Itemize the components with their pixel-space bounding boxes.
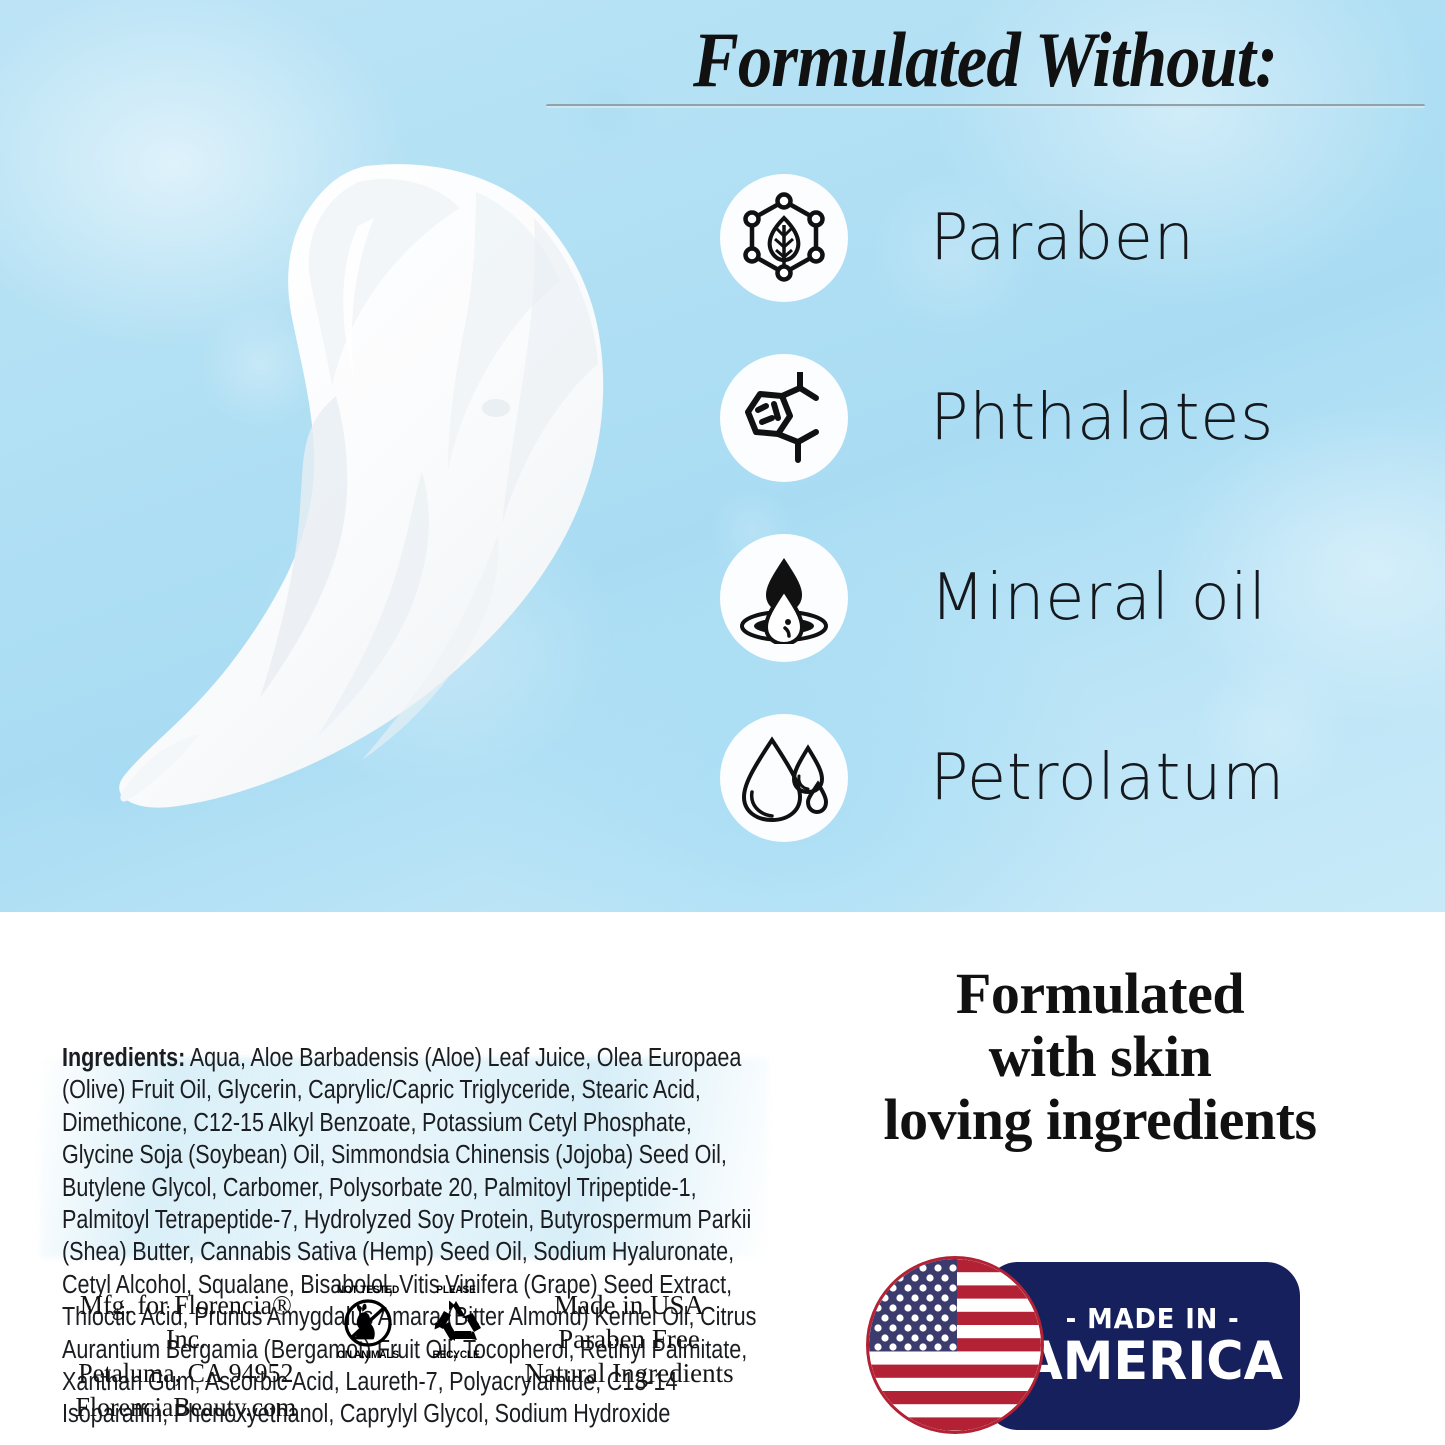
badge-bottom-label: AMERICA	[1023, 1334, 1283, 1389]
ingredients-heading: Ingredients:	[62, 1044, 185, 1072]
not-tested-on-animals-icon: NOT TESTED ON ANIMALS	[332, 1284, 404, 1362]
benzene-chain-icon	[720, 354, 848, 482]
us-flag-icon	[866, 1256, 1044, 1434]
list-item[interactable]: Phthalates	[712, 328, 1432, 508]
address-line-1: Mfg. for Florencia® Inc.	[62, 1288, 310, 1356]
recycle-top-label: PLEASE	[423, 1284, 489, 1297]
oil-drop-puddle-icon	[720, 534, 848, 662]
cream-swatch-image	[104, 158, 664, 838]
please-recycle-icon: PLEASE RECYCLE	[420, 1284, 492, 1362]
badge-top-label: - MADE IN -	[1066, 1304, 1240, 1334]
manufacturer-address: Mfg. for Florencia® Inc. Petaluma, CA 94…	[62, 1282, 310, 1424]
headline-line-3: loving ingredients	[760, 1088, 1440, 1151]
made-in-america-badge: - MADE IN - AMERICA	[866, 1256, 1300, 1436]
website-url[interactable]: FlorenciaBeauty.com	[62, 1390, 310, 1424]
list-item-label: Mineral oil	[930, 566, 1267, 630]
page-title: Formulated Without:	[598, 18, 1372, 102]
claim-line-1: Made in USA	[504, 1288, 754, 1322]
molecule-leaf-icon	[720, 174, 848, 302]
list-item-label: Petrolatum	[930, 746, 1285, 810]
list-item[interactable]: Mineral oil	[712, 508, 1432, 688]
headline-line-1: Formulated	[760, 962, 1440, 1025]
address-line-2: Petaluma, CA 94952	[62, 1356, 310, 1390]
not-tested-bottom-label: ON ANIMALS	[335, 1349, 401, 1362]
manufacturer-footer: Mfg. for Florencia® Inc. Petaluma, CA 94…	[62, 1282, 762, 1424]
rabbit-crossed-circle-glyph	[339, 1298, 397, 1348]
free-from-list: Paraben Phthalates	[712, 148, 1432, 868]
headline-line-2: with skin	[760, 1025, 1440, 1088]
certification-icons: NOT TESTED ON ANIMALS PLEASE	[332, 1282, 492, 1362]
list-item-label: Paraben	[930, 206, 1195, 270]
claim-line-2: Paraben Free	[504, 1322, 754, 1356]
list-item[interactable]: Paraben	[712, 148, 1432, 328]
title-divider-rule	[546, 104, 1425, 108]
recycle-bottom-label: RECYCLE	[423, 1349, 489, 1362]
product-claims: Made in USA Paraben Free Natural Ingredi…	[504, 1282, 754, 1390]
water-droplets-icon	[720, 714, 848, 842]
list-item-label: Phthalates	[930, 386, 1274, 450]
claim-line-3: Natural Ingredients	[504, 1356, 754, 1390]
recycle-arrows-glyph	[427, 1298, 485, 1348]
list-item[interactable]: Petrolatum	[712, 688, 1432, 868]
not-tested-top-label: NOT TESTED	[335, 1284, 401, 1297]
product-infographic: Formulated Without:	[0, 0, 1445, 1445]
formulated-with-headline: Formulated with skin loving ingredients	[760, 962, 1440, 1151]
